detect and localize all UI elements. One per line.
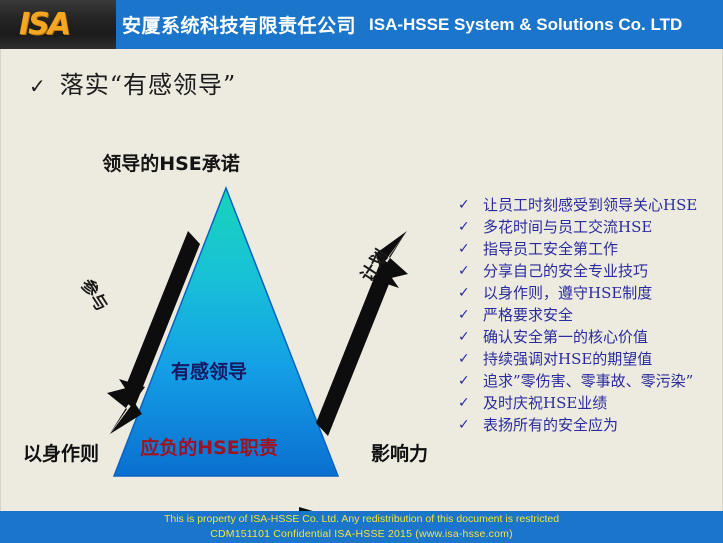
slide: ISA 安厦系统科技有限责任公司 ISA-HSSE System & Solut…	[0, 0, 723, 543]
triangle-left-corner-label: 以身作则	[23, 439, 99, 466]
list-item: ✓ 持续强调对HSE的期望值	[449, 349, 717, 370]
triangle-title: 领导的HSE承诺	[1, 149, 341, 176]
page-title: 落实“有感领导”	[60, 65, 237, 100]
triangle-right-corner-label: 影响力	[371, 439, 428, 466]
list-item-label: 分享自己的安全专业技巧	[483, 261, 717, 282]
list-item-label: 追求”零伤害、零事故、零污染”	[483, 371, 717, 392]
check-icon: ✓	[449, 327, 483, 348]
list-item: ✓ 及时庆祝HSE业绩	[449, 393, 717, 414]
slide-body: ✓ 落实“有感领导” 领导的HSE承诺 有感领导 应负的HSE职责	[0, 49, 723, 511]
header-title-group: 安厦系统科技有限责任公司 ISA-HSSE System & Solutions…	[122, 0, 682, 49]
list-item: ✓ 分享自己的安全专业技巧	[449, 261, 717, 282]
check-icon: ✓	[449, 371, 483, 392]
leadership-triangle-diagram: 领导的HSE承诺 有感领导 应负的HSE职责	[1, 149, 441, 509]
list-item-label: 让员工时刻感受到领导关心HSE	[483, 195, 717, 216]
list-item-label: 多花时间与员工交流HSE	[483, 217, 717, 238]
check-icon: ✓	[449, 195, 483, 216]
check-icon: ✓	[449, 393, 483, 414]
check-icon: ✓	[29, 74, 46, 98]
slide-footer: This is property of ISA-HSSE Co. Ltd. An…	[0, 511, 723, 543]
list-item: ✓ 表扬所有的安全应为	[449, 415, 717, 436]
slide-header: ISA 安厦系统科技有限责任公司 ISA-HSSE System & Solut…	[0, 0, 723, 49]
list-item-label: 及时庆祝HSE业绩	[483, 393, 717, 414]
arrow-down-left-icon	[105, 227, 205, 442]
company-name-cn: 安厦系统科技有限责任公司	[122, 11, 356, 38]
check-icon: ✓	[449, 239, 483, 260]
list-item-label: 以身作则，遵守HSE制度	[483, 283, 717, 304]
list-item-label: 表扬所有的安全应为	[483, 415, 717, 436]
check-icon: ✓	[449, 283, 483, 304]
bullet-list: ✓ 让员工时刻感受到领导关心HSE ✓ 多花时间与员工交流HSE ✓ 指导员工安…	[449, 195, 717, 437]
footer-line-2: CDM151101 Confidential ISA-HSSE 2015 (ww…	[0, 527, 723, 542]
list-item: ✓ 以身作则，遵守HSE制度	[449, 283, 717, 304]
list-item: ✓ 多花时间与员工交流HSE	[449, 217, 717, 238]
list-item-label: 严格要求安全	[483, 305, 717, 326]
isa-logo-icon: ISA	[19, 7, 69, 42]
slide-heading: ✓ 落实“有感领导”	[29, 65, 236, 100]
check-icon: ✓	[449, 415, 483, 436]
list-item: ✓ 确认安全第一的核心价值	[449, 327, 717, 348]
check-icon: ✓	[449, 305, 483, 326]
check-icon: ✓	[449, 217, 483, 238]
check-icon: ✓	[449, 261, 483, 282]
check-icon: ✓	[449, 349, 483, 370]
list-item-label: 确认安全第一的核心价值	[483, 327, 717, 348]
list-item: ✓ 严格要求安全	[449, 305, 717, 326]
footer-line-1: This is property of ISA-HSSE Co. Ltd. An…	[0, 512, 723, 527]
list-item-label: 指导员工安全第工作	[483, 239, 717, 260]
list-item: ✓ 让员工时刻感受到领导关心HSE	[449, 195, 717, 216]
logo-panel: ISA	[0, 0, 116, 49]
list-item: ✓ 指导员工安全第工作	[449, 239, 717, 260]
list-item-label: 持续强调对HSE的期望值	[483, 349, 717, 370]
list-item: ✓ 追求”零伤害、零事故、零污染”	[449, 371, 717, 392]
company-name-en: ISA-HSSE System & Solutions Co. LTD	[369, 15, 682, 35]
